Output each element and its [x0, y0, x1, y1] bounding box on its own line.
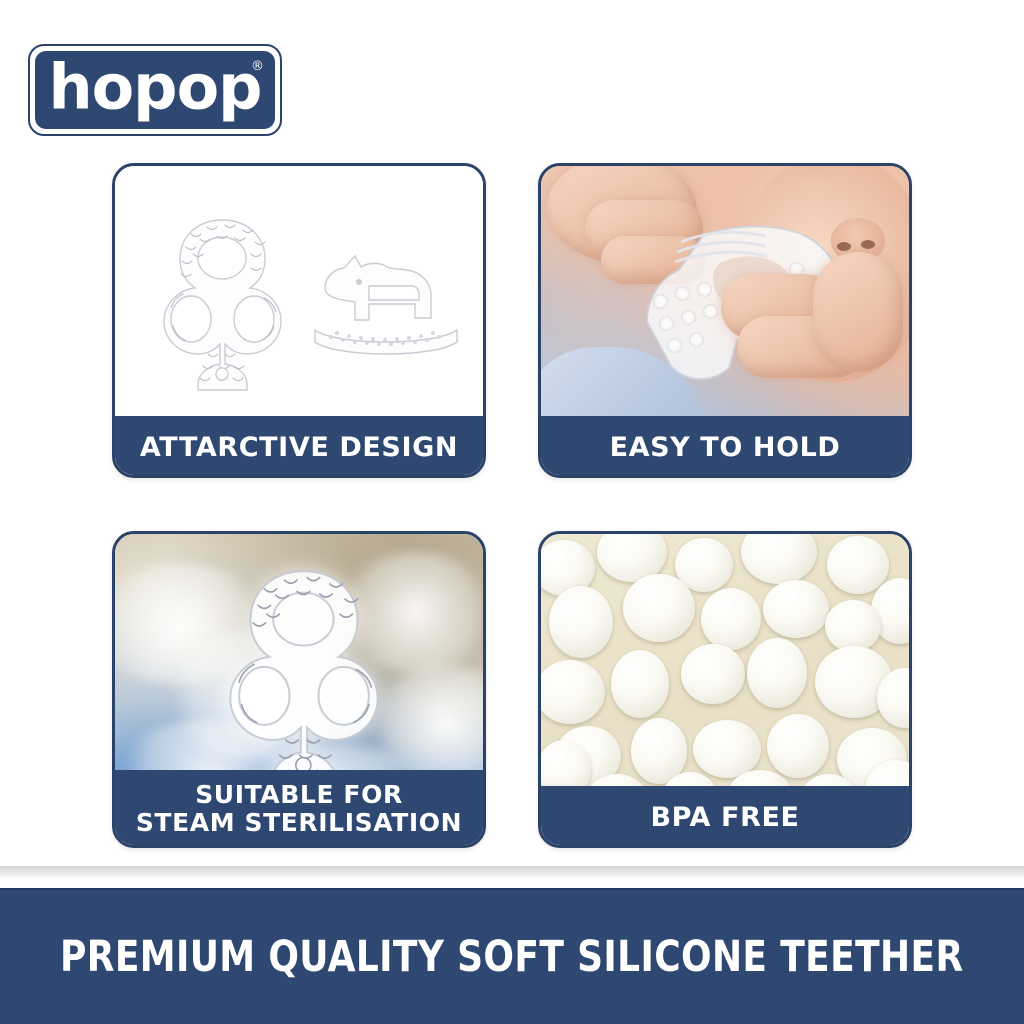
- feature-card-attractive-design: ATTARCTIVE DESIGN: [112, 163, 486, 478]
- feature-card-bpa-free: BPA FREE: [538, 531, 912, 848]
- logo-wordmark: hopop: [48, 57, 261, 119]
- silicone-pellet: [681, 644, 745, 704]
- silicone-pellet: [623, 574, 695, 642]
- silicone-pellet: [541, 660, 605, 724]
- banner-headline: PREMIUM QUALITY SOFT SILICONE TEETHER: [60, 932, 964, 982]
- baby-thumb: [813, 252, 903, 372]
- registered-trademark-icon: ®: [251, 60, 264, 73]
- teether-nub: [659, 316, 674, 331]
- teether-nub: [689, 332, 704, 347]
- feature-label-bpa-free: BPA FREE: [538, 786, 912, 848]
- feature-label-line-2: STEAM STERILISATION: [136, 808, 462, 837]
- tree-teether-illustration: [155, 214, 290, 394]
- teether-nub: [703, 304, 718, 319]
- silicone-pellet: [549, 586, 613, 658]
- silicone-pellet: [825, 600, 881, 652]
- teether-nub: [675, 286, 690, 301]
- feature-label-text: EASY TO HOLD: [610, 432, 841, 463]
- feature-label-text: ATTARCTIVE DESIGN: [140, 432, 458, 463]
- feature-card-easy-to-hold: EASY TO HOLD: [538, 163, 912, 478]
- product-infographic: hopop ®: [0, 0, 1024, 1024]
- silicone-pellet: [827, 536, 889, 594]
- logo-plate: hopop ®: [35, 51, 275, 129]
- feature-label-easy-to-hold: EASY TO HOLD: [538, 416, 912, 478]
- feature-label-text: BPA FREE: [650, 802, 799, 833]
- baby-nostril-right: [861, 240, 875, 249]
- teether-nub: [653, 294, 668, 309]
- teether-nub: [697, 282, 712, 297]
- teether-nub: [667, 338, 682, 353]
- bottom-banner: PREMIUM QUALITY SOFT SILICONE TEETHER: [0, 888, 1024, 1024]
- brand-logo: hopop ®: [28, 44, 282, 136]
- banner-top-shadow: [0, 866, 1024, 880]
- tree-teether-in-steam: [219, 562, 389, 792]
- silicone-pellet: [741, 534, 817, 584]
- feature-card-grid: ATTARCTIVE DESIGN: [112, 163, 912, 863]
- feature-label-attractive-design: ATTARCTIVE DESIGN: [112, 416, 486, 478]
- silicone-pellet: [693, 720, 761, 778]
- silicone-pellet: [763, 580, 829, 638]
- feature-label-line-1: SUITABLE FOR: [195, 780, 403, 809]
- rocking-horse-teether-illustration: [311, 244, 461, 374]
- feature-label-steam-sterilisation: SUITABLE FOR STEAM STERILISATION: [112, 770, 486, 848]
- silicone-pellet: [701, 588, 761, 650]
- silicone-pellet: [747, 638, 807, 708]
- silicone-pellet: [767, 714, 829, 778]
- silicone-pellet: [611, 650, 669, 718]
- feature-card-steam-sterilisation: SUITABLE FOR STEAM STERILISATION: [112, 531, 486, 848]
- feature-label-text: SUITABLE FOR STEAM STERILISATION: [136, 781, 462, 837]
- teether-nub: [681, 310, 696, 325]
